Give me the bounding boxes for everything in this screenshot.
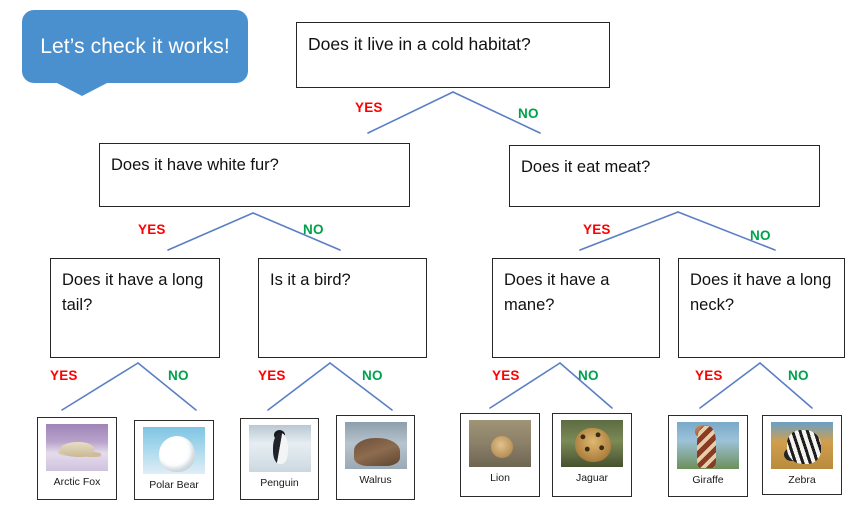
jaguar-icon [561, 420, 623, 467]
branch-label-bird-no: NO [362, 368, 383, 383]
branch-label-whitefur-yes: YES [138, 222, 166, 237]
branch-label-longneck-no: NO [788, 368, 809, 383]
leaf-card[interactable]: Lion [460, 413, 540, 497]
question-text: Does it eat meat? [521, 158, 650, 176]
leaf-label: Giraffe [692, 474, 723, 486]
question-text: Does it have a long neck? [690, 271, 831, 314]
walrus-icon [345, 422, 407, 469]
arctic-fox-icon [46, 424, 108, 471]
penguin-icon [249, 425, 311, 472]
leaf-card[interactable]: Polar Bear [134, 420, 214, 500]
animal-thumbnail [249, 425, 311, 472]
decision-tree-slide: Let’s check it works! Does it live in a … [0, 0, 864, 523]
branch-label-mane-yes: YES [492, 368, 520, 383]
giraffe-icon [677, 422, 739, 469]
branch-label-root-yes: YES [355, 100, 383, 115]
question-box-long-neck[interactable]: Does it have a long neck? [678, 258, 845, 358]
question-text: Is it a bird? [270, 271, 351, 289]
branch-label-whitefur-no: NO [303, 222, 324, 237]
branch-label-longneck-yes: YES [695, 368, 723, 383]
branch-label-eatmeat-no: NO [750, 228, 771, 243]
animal-thumbnail [46, 424, 108, 471]
animal-thumbnail [469, 420, 531, 467]
branch-label-bird-yes: YES [258, 368, 286, 383]
leaf-card[interactable]: Arctic Fox [37, 417, 117, 500]
leaf-label: Jaguar [576, 472, 608, 484]
question-box-white-fur[interactable]: Does it have white fur? [99, 143, 410, 207]
leaf-label: Lion [490, 472, 510, 484]
leaf-label: Penguin [260, 477, 299, 489]
polar-bear-icon [143, 427, 205, 474]
leaf-card[interactable]: Zebra [762, 415, 842, 495]
callout-bubble: Let’s check it works! [22, 10, 248, 83]
callout-tail [55, 82, 109, 96]
leaf-label: Polar Bear [149, 479, 199, 491]
question-text: Does it have white fur? [111, 156, 279, 174]
leaf-label: Walrus [359, 474, 391, 486]
question-text: Does it live in a cold habitat? [308, 34, 531, 54]
branch-label-longtail-no: NO [168, 368, 189, 383]
animal-thumbnail [143, 427, 205, 474]
question-box-root[interactable]: Does it live in a cold habitat? [296, 22, 610, 88]
question-box-long-tail[interactable]: Does it have a long tail? [50, 258, 220, 358]
branch-label-root-no: NO [518, 106, 539, 121]
question-box-is-bird[interactable]: Is it a bird? [258, 258, 427, 358]
leaf-label: Zebra [788, 474, 815, 486]
leaf-card[interactable]: Jaguar [552, 413, 632, 497]
leaf-card[interactable]: Giraffe [668, 415, 748, 497]
leaf-label: Arctic Fox [54, 476, 101, 488]
lion-icon [469, 420, 531, 467]
edge-whitefur-no [253, 213, 340, 250]
leaf-card[interactable]: Walrus [336, 415, 415, 500]
question-box-mane[interactable]: Does it have a mane? [492, 258, 660, 358]
animal-thumbnail [561, 420, 623, 467]
question-box-eat-meat[interactable]: Does it eat meat? [509, 145, 820, 207]
animal-thumbnail [677, 422, 739, 469]
question-text: Does it have a mane? [504, 271, 609, 314]
leaf-card[interactable]: Penguin [240, 418, 319, 500]
branch-label-mane-no: NO [578, 368, 599, 383]
edge-bird-no [330, 363, 392, 410]
branch-label-eatmeat-yes: YES [583, 222, 611, 237]
zebra-icon [771, 422, 833, 469]
animal-thumbnail [345, 422, 407, 469]
edge-whitefur-yes [168, 213, 253, 250]
question-text: Does it have a long tail? [62, 271, 203, 314]
callout-text: Let’s check it works! [40, 34, 230, 60]
branch-label-longtail-yes: YES [50, 368, 78, 383]
animal-thumbnail [771, 422, 833, 469]
